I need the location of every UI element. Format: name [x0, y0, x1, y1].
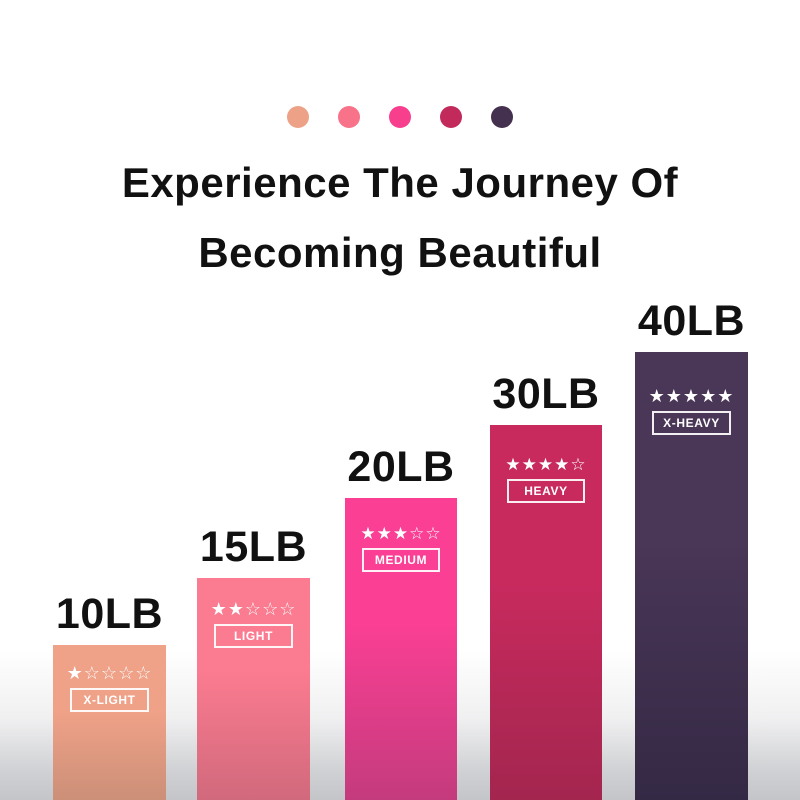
resistance-level-label: LIGHT [214, 624, 293, 648]
dot-light [338, 106, 360, 128]
star-rating: ★★★★★ [649, 387, 735, 405]
bar-badge: ★★☆☆☆LIGHT [197, 600, 310, 648]
star-empty-icon: ☆ [262, 600, 279, 618]
star-filled-icon: ★ [211, 600, 228, 618]
star-filled-icon: ★ [666, 387, 683, 405]
star-rating: ★☆☆☆☆ [67, 664, 153, 682]
dot-x-heavy [491, 106, 513, 128]
star-empty-icon: ☆ [425, 525, 441, 542]
resistance-level-label: X-HEAVY [652, 411, 731, 435]
star-filled-icon: ★ [700, 387, 717, 405]
resistance-level-label: X-LIGHT [70, 688, 149, 712]
bar-x-heavy[interactable]: ★★★★★X-HEAVY [635, 352, 748, 800]
bar-value-label: 30LB [490, 373, 602, 416]
star-empty-icon: ☆ [570, 456, 586, 473]
star-empty-icon: ☆ [101, 664, 118, 682]
star-empty-icon: ☆ [118, 664, 135, 682]
star-empty-icon: ☆ [279, 600, 296, 618]
star-empty-icon: ☆ [84, 664, 101, 682]
bar-badge: ★☆☆☆☆X-LIGHT [53, 664, 166, 712]
color-swatch-dots [0, 106, 800, 128]
bar-value-label: 40LB [635, 300, 748, 343]
bar-group[interactable]: 40LB★★★★★X-HEAVY [635, 282, 748, 800]
bar-group[interactable]: 20LB★★★☆☆MEDIUM [345, 428, 457, 800]
star-empty-icon: ☆ [409, 525, 425, 542]
star-filled-icon: ★ [67, 664, 84, 682]
star-rating: ★★★☆☆ [360, 525, 441, 542]
star-filled-icon: ★ [683, 387, 700, 405]
bar-value-label: 15LB [197, 526, 310, 569]
bar-light[interactable]: ★★☆☆☆LIGHT [197, 578, 310, 800]
bar-group[interactable]: 30LB★★★★☆HEAVY [490, 355, 602, 800]
dot-medium [389, 106, 411, 128]
resistance-level-label: MEDIUM [362, 548, 440, 572]
bar-badge: ★★★★★X-HEAVY [635, 387, 748, 435]
bar-medium[interactable]: ★★★☆☆MEDIUM [345, 498, 457, 800]
bar-heavy[interactable]: ★★★★☆HEAVY [490, 425, 602, 800]
star-empty-icon: ☆ [135, 664, 152, 682]
bar-badge: ★★★★☆HEAVY [490, 456, 602, 503]
bar-group[interactable]: 10LB★☆☆☆☆X-LIGHT [53, 575, 166, 800]
product-infographic-poster: Experience The Journey Of Becoming Beaut… [0, 0, 800, 800]
star-filled-icon: ★ [717, 387, 734, 405]
headline-line-1: Experience The Journey Of [0, 148, 800, 218]
headline-line-2: Becoming Beautiful [0, 218, 800, 288]
star-filled-icon: ★ [649, 387, 666, 405]
star-filled-icon: ★ [554, 456, 570, 473]
star-filled-icon: ★ [538, 456, 554, 473]
star-filled-icon: ★ [505, 456, 521, 473]
resistance-level-label: HEAVY [507, 479, 585, 503]
star-filled-icon: ★ [360, 525, 376, 542]
bar-value-label: 20LB [345, 446, 457, 489]
page-title: Experience The Journey Of Becoming Beaut… [0, 148, 800, 288]
dot-x-light [287, 106, 309, 128]
bar-group[interactable]: 15LB★★☆☆☆LIGHT [197, 508, 310, 800]
star-rating: ★★★★☆ [505, 456, 586, 473]
bar-x-light[interactable]: ★☆☆☆☆X-LIGHT [53, 645, 166, 800]
star-filled-icon: ★ [393, 525, 409, 542]
star-filled-icon: ★ [228, 600, 245, 618]
star-filled-icon: ★ [522, 456, 538, 473]
star-rating: ★★☆☆☆ [211, 600, 297, 618]
star-filled-icon: ★ [377, 525, 393, 542]
star-empty-icon: ☆ [245, 600, 262, 618]
bar-value-label: 10LB [53, 593, 166, 636]
dot-heavy [440, 106, 462, 128]
bar-badge: ★★★☆☆MEDIUM [345, 525, 457, 572]
